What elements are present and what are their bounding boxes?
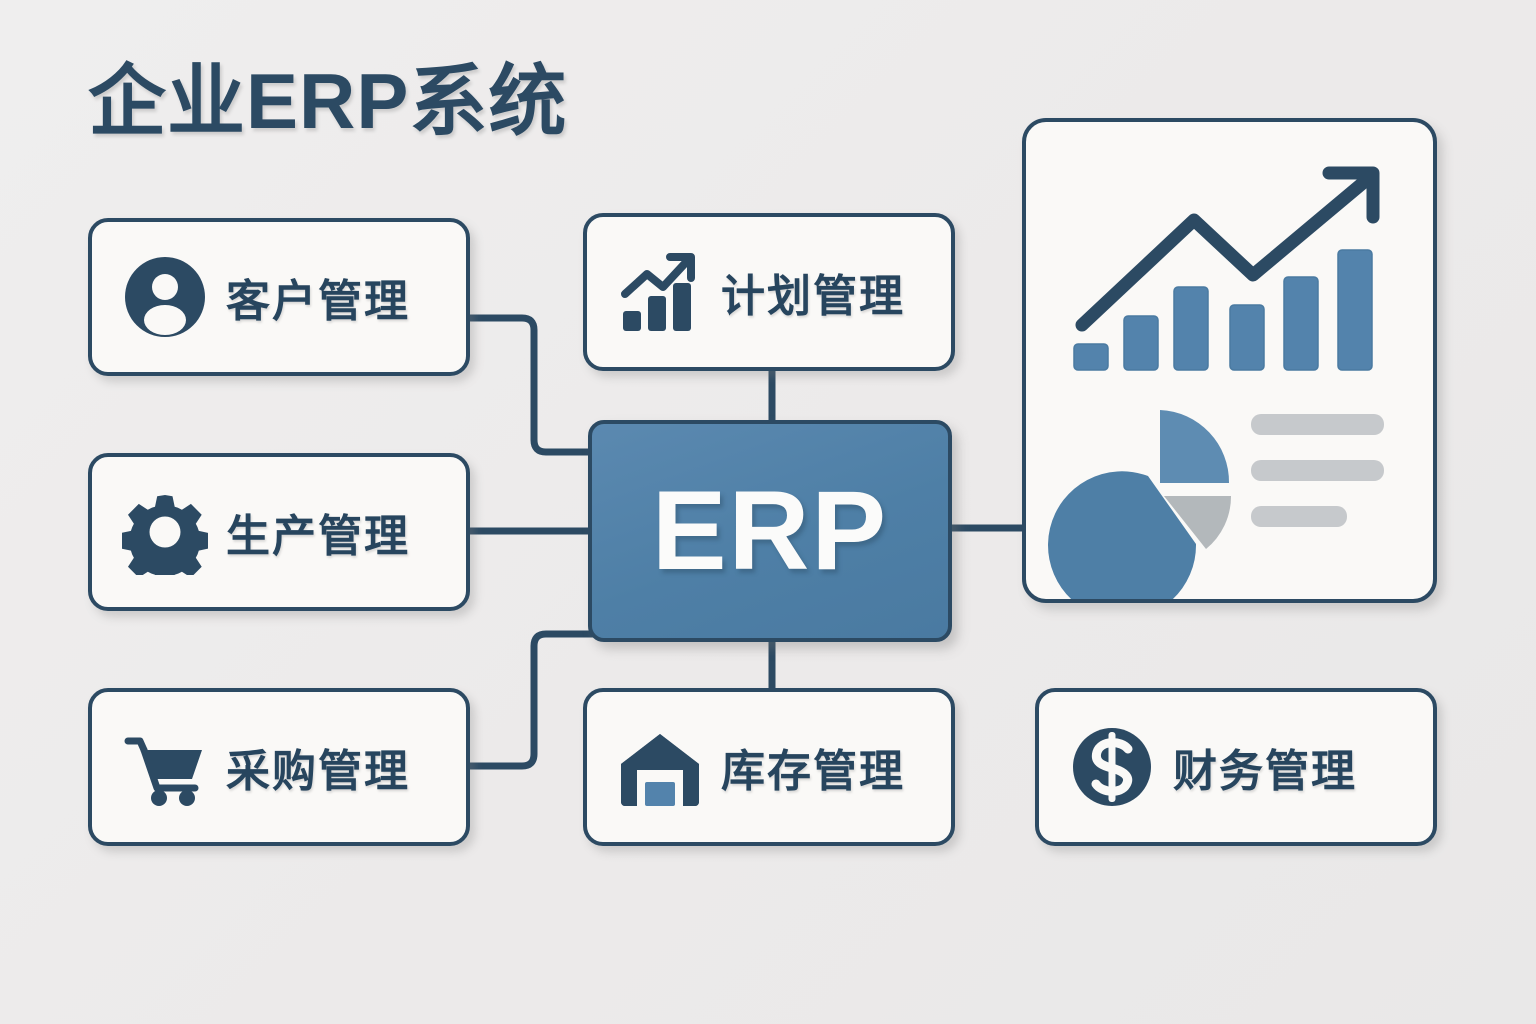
module-card-customer[interactable]: 客户管理 bbox=[88, 218, 470, 376]
module-card-procurement[interactable]: 采购管理 bbox=[88, 688, 470, 846]
report-placeholder-lines bbox=[1251, 414, 1384, 527]
module-card-plan[interactable]: 计划管理 bbox=[583, 213, 955, 371]
module-card-finance[interactable]: 财务管理 bbox=[1035, 688, 1437, 846]
erp-core-label: ERP bbox=[652, 475, 888, 587]
module-card-production[interactable]: 生产管理 bbox=[88, 453, 470, 611]
analytics-report-panel[interactable] bbox=[1022, 118, 1437, 603]
shopping-cart-icon bbox=[122, 724, 208, 810]
module-label-inventory: 库存管理 bbox=[721, 735, 905, 799]
growth-trend-arrow bbox=[1082, 173, 1373, 325]
pie-chart bbox=[1048, 410, 1231, 599]
module-label-procurement: 采购管理 bbox=[226, 735, 410, 799]
module-label-customer: 客户管理 bbox=[226, 265, 410, 329]
module-label-production: 生产管理 bbox=[226, 500, 410, 564]
warehouse-icon bbox=[617, 724, 703, 810]
diagram-canvas: 企业ERP系统 客户管理 bbox=[0, 0, 1536, 1024]
user-icon bbox=[122, 254, 208, 340]
page-title: 企业ERP系统 bbox=[88, 62, 567, 140]
gear-icon bbox=[122, 489, 208, 575]
connector-customer bbox=[470, 318, 600, 452]
analytics-illustration bbox=[1026, 122, 1433, 599]
bar-growth-icon bbox=[617, 249, 703, 335]
connector-procurement bbox=[470, 634, 600, 766]
module-card-inventory[interactable]: 库存管理 bbox=[583, 688, 955, 846]
module-label-plan: 计划管理 bbox=[721, 260, 905, 324]
module-label-finance: 财务管理 bbox=[1173, 735, 1357, 799]
bar-chart-bars bbox=[1074, 250, 1372, 370]
erp-core-node[interactable]: ERP bbox=[588, 420, 952, 642]
dollar-coin-icon bbox=[1069, 724, 1155, 810]
